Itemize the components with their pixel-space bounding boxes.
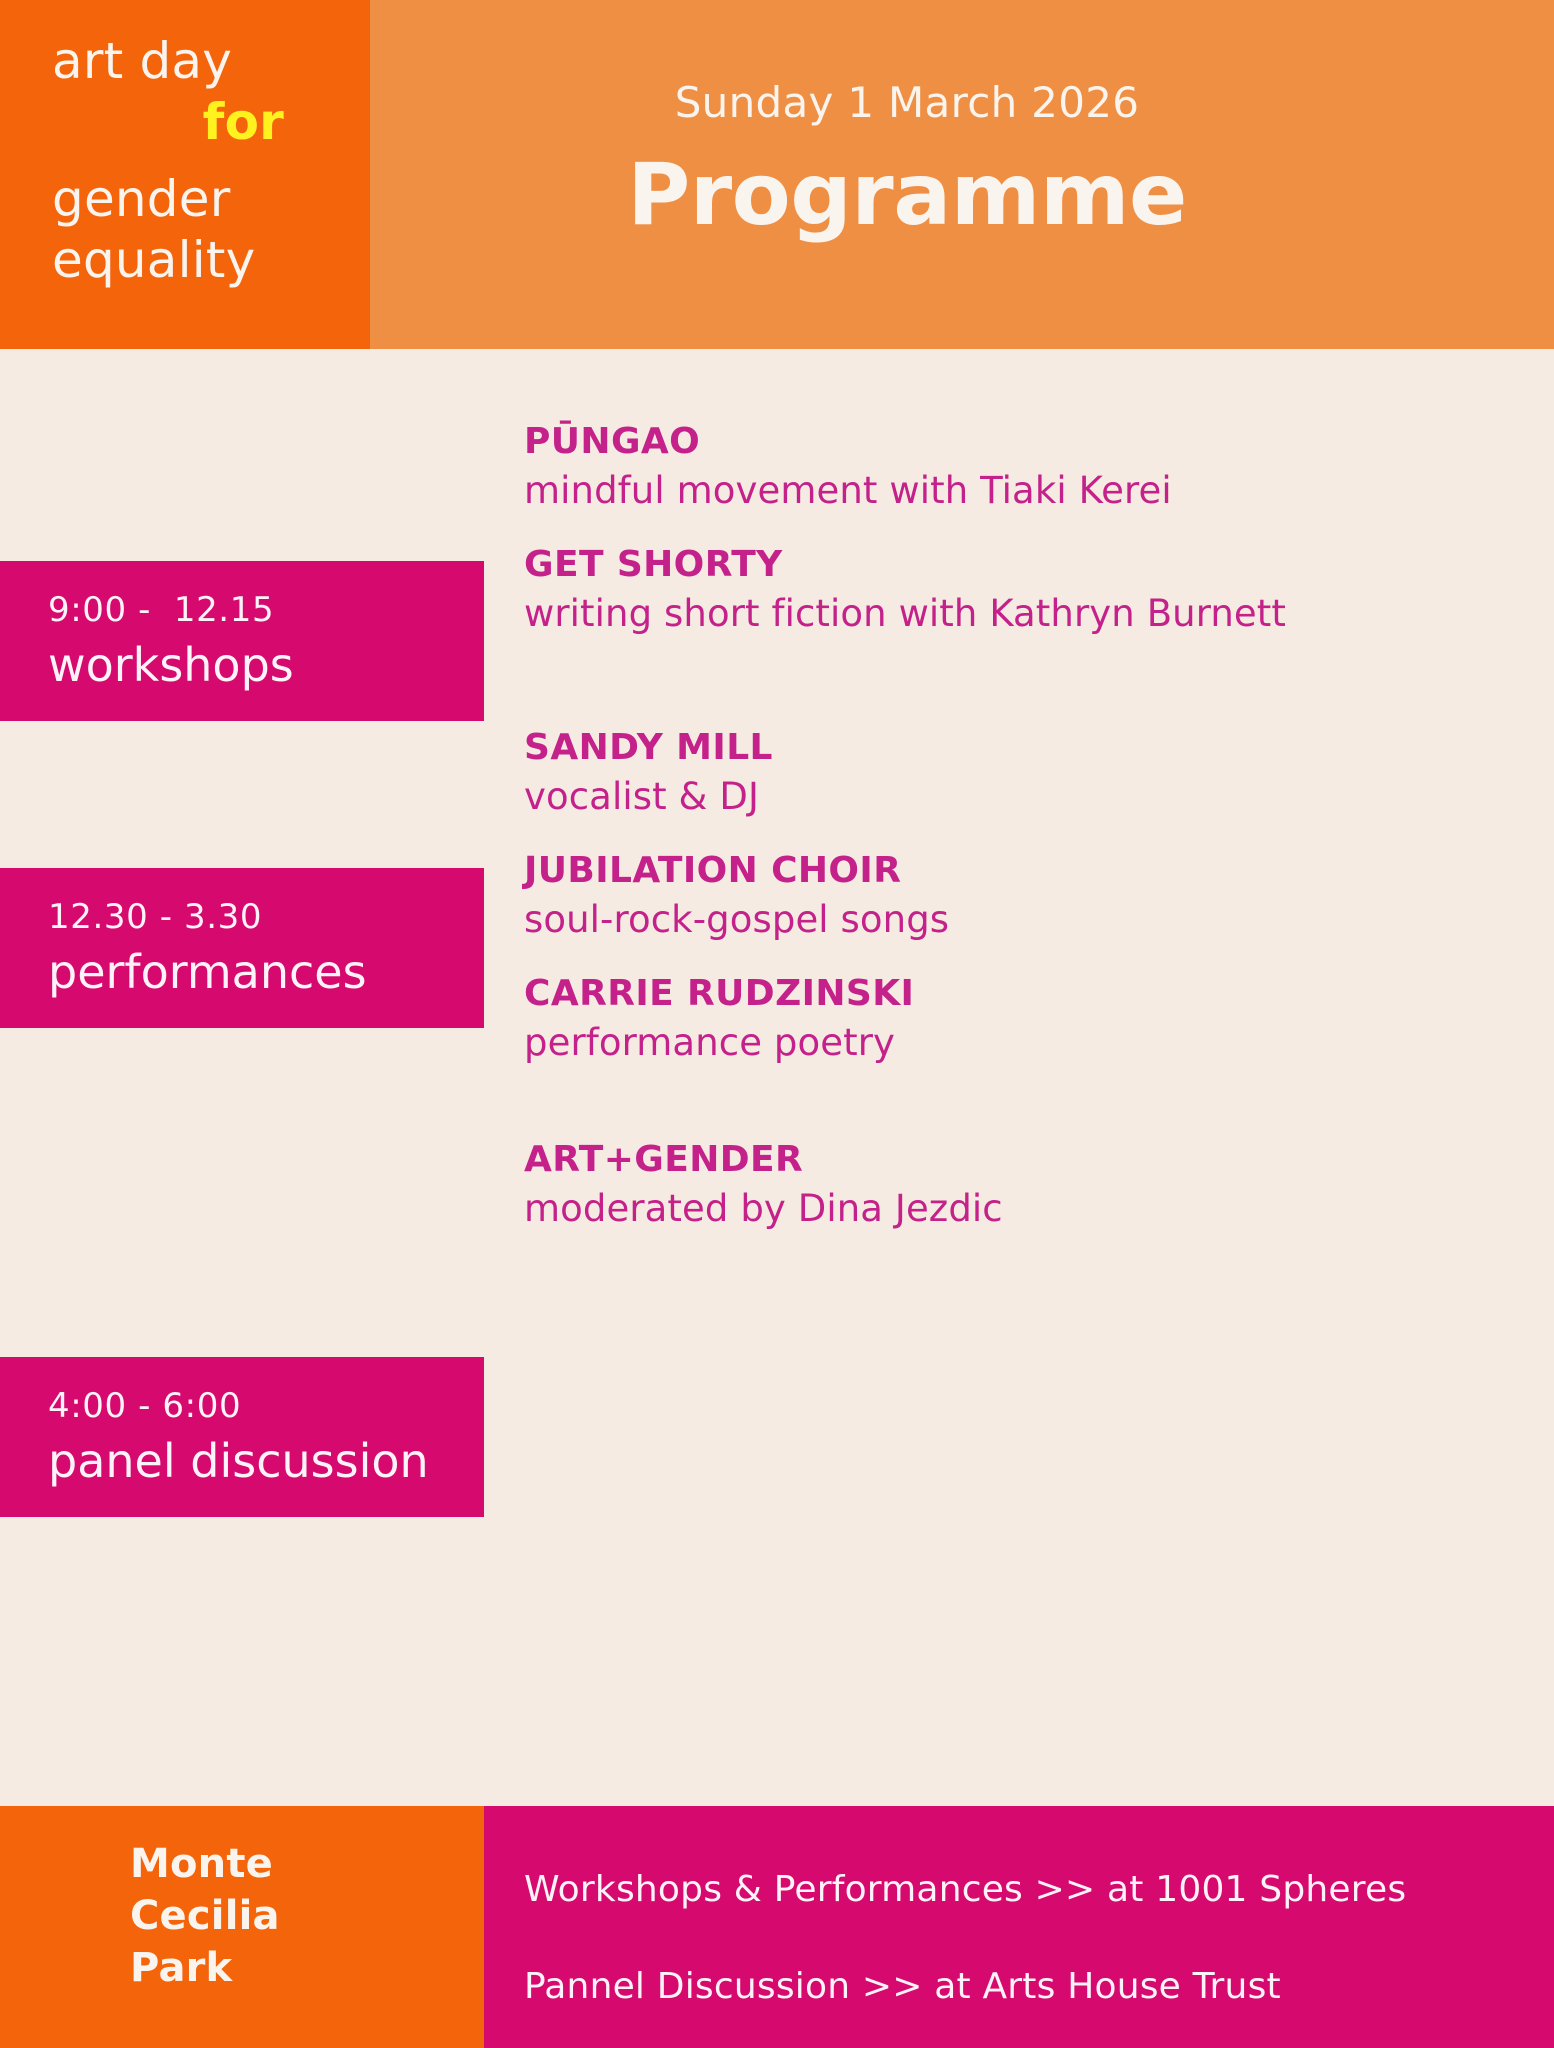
poster-footer: Monte Cecilia Park Workshops & Performan… <box>0 1806 1554 2048</box>
poster-header: art day for gender equality Sunday 1 Mar… <box>0 0 1554 349</box>
entry-list-performances: SANDY MILL vocalist & DJ JUBILATION CHOI… <box>524 727 1534 1066</box>
time-chip-performances: 12.30 - 3.30 performances <box>0 868 484 1028</box>
time-chip-range: 4:00 - 6:00 <box>48 1385 484 1428</box>
entry-title: CARRIE RUDZINSKI <box>524 973 1534 1015</box>
entry-subtitle: moderated by Dina Jezdic <box>524 1187 1534 1231</box>
entry-subtitle: soul-rock-gospel songs <box>524 898 1534 942</box>
time-chip-label: performances <box>48 945 484 1000</box>
page-title: Programme <box>370 145 1554 245</box>
entry-subtitle: mindful movement with Tiaki Kerei <box>524 469 1534 513</box>
entry-title: GET SHORTY <box>524 544 1534 586</box>
time-chip-range: 9:00 - 12.15 <box>48 589 484 632</box>
venue-block: Monte Cecilia Park <box>0 1806 484 2048</box>
entry-title: JUBILATION CHOIR <box>524 850 1534 892</box>
schedule-entry: SANDY MILL vocalist & DJ <box>524 727 1534 820</box>
entry-subtitle: performance poetry <box>524 1021 1534 1065</box>
time-chip-workshops: 9:00 - 12.15 workshops <box>0 561 484 721</box>
entry-title: SANDY MILL <box>524 727 1534 769</box>
schedule-area: 9:00 - 12.15 workshops PŪNGAO mindful mo… <box>0 349 1554 1806</box>
brand-line-gender: gender <box>52 166 336 233</box>
venue-line-3: Park <box>130 1942 484 1994</box>
entry-subtitle: vocalist & DJ <box>524 775 1534 819</box>
venue-line-1: Monte <box>130 1838 484 1890</box>
entry-subtitle: writing short fiction with Kathryn Burne… <box>524 592 1534 636</box>
entry-list-panel: ART+GENDER moderated by Dina Jezdic <box>524 1139 1534 1232</box>
header-title-block: Sunday 1 March 2026 Programme <box>370 0 1554 349</box>
location-note-panel: Pannel Discussion >> at Arts House Trust <box>524 1965 1554 2008</box>
entry-title: ART+GENDER <box>524 1139 1534 1181</box>
schedule-entry: CARRIE RUDZINSKI performance poetry <box>524 973 1534 1066</box>
programme-poster: art day for gender equality Sunday 1 Mar… <box>0 0 1554 2048</box>
venue-line-2: Cecilia <box>130 1890 484 1942</box>
location-notes-block: Workshops & Performances >> at 1001 Sphe… <box>484 1806 1554 2048</box>
entry-title: PŪNGAO <box>524 421 1534 463</box>
schedule-entry: JUBILATION CHOIR soul-rock-gospel songs <box>524 850 1534 943</box>
brand-line-equality: equality <box>52 227 336 294</box>
brand-block: art day for gender equality <box>0 0 370 349</box>
schedule-entry: ART+GENDER moderated by Dina Jezdic <box>524 1139 1534 1232</box>
schedule-entry: PŪNGAO mindful movement with Tiaki Kerei <box>524 421 1534 514</box>
event-date: Sunday 1 March 2026 <box>370 78 1554 127</box>
entry-list-workshops: PŪNGAO mindful movement with Tiaki Kerei… <box>524 421 1534 637</box>
brand-line-art-day: art day <box>52 28 336 95</box>
time-chip-label: workshops <box>48 638 484 693</box>
location-note-workshops: Workshops & Performances >> at 1001 Sphe… <box>524 1868 1554 1911</box>
time-chip-panel-discussion: 4:00 - 6:00 panel discussion <box>0 1357 484 1517</box>
brand-line-for: for <box>52 89 336 156</box>
time-chip-label: panel discussion <box>48 1434 484 1489</box>
time-chip-range: 12.30 - 3.30 <box>48 896 484 939</box>
schedule-entry: GET SHORTY writing short fiction with Ka… <box>524 544 1534 637</box>
